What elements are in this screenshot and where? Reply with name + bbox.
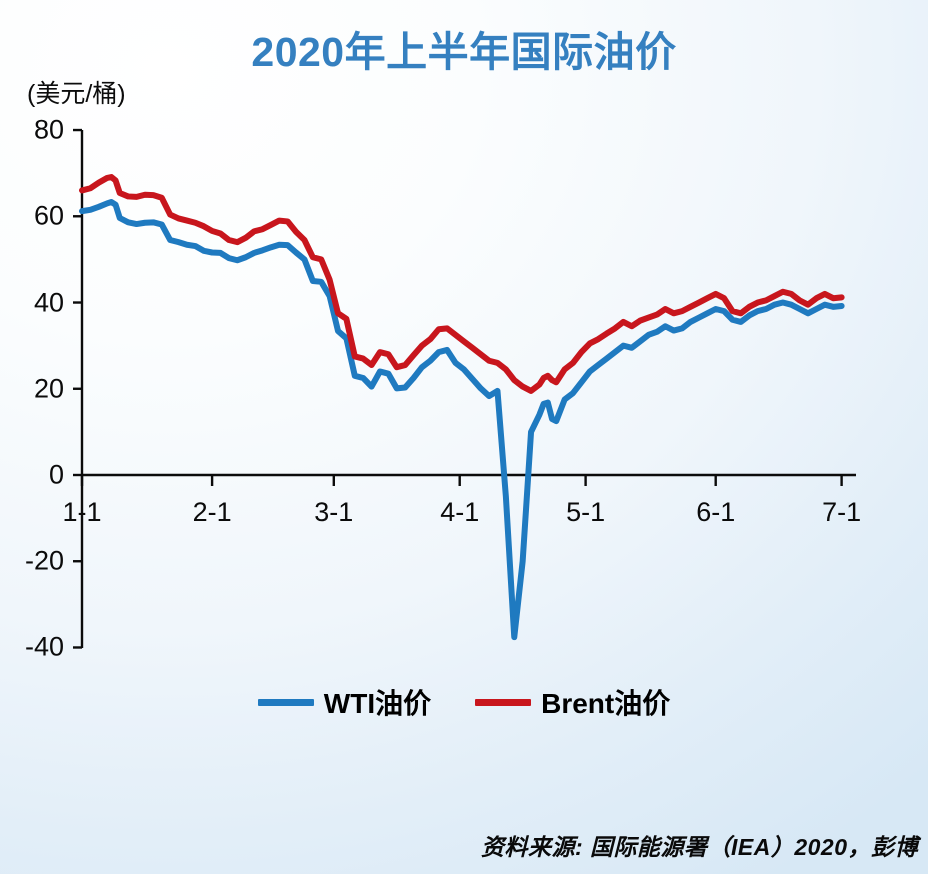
source-note: 资料来源: 国际能源署（IEA）2020，彭博 — [481, 828, 918, 862]
x-tick-label: 7-1 — [822, 497, 861, 528]
legend-swatch-wti — [258, 699, 314, 706]
x-tick-label: 2-1 — [193, 497, 232, 528]
x-tick-label: 4-1 — [440, 497, 479, 528]
x-tick-label: 6-1 — [696, 497, 735, 528]
series-line-wti — [82, 202, 842, 637]
legend-item-brent[interactable]: Brent油价 — [475, 682, 670, 722]
chart-page: 2020年上半年国际油价 (美元/桶) 806040200-20-40 1-12… — [0, 0, 928, 874]
x-tick-label: 5-1 — [566, 497, 605, 528]
y-tick-label: -20 — [4, 546, 64, 577]
x-tick-label: 3-1 — [314, 497, 353, 528]
legend-label-brent: Brent油价 — [541, 682, 670, 722]
y-tick-label: 80 — [4, 115, 64, 146]
legend-swatch-brent — [475, 699, 531, 706]
y-tick-label: 60 — [4, 201, 64, 232]
y-tick-label: 0 — [4, 460, 64, 491]
y-tick-label: -40 — [4, 632, 64, 663]
y-tick-label: 20 — [4, 373, 64, 404]
axis-lines — [73, 130, 856, 648]
legend-label-wti: WTI油价 — [324, 682, 431, 722]
legend-item-wti[interactable]: WTI油价 — [258, 682, 431, 722]
line-chart-plot — [0, 0, 928, 874]
chart-legend: WTI油价 Brent油价 — [0, 682, 928, 722]
series-line-brent — [82, 177, 842, 391]
series-lines — [82, 177, 842, 637]
y-tick-label: 40 — [4, 287, 64, 318]
x-tick-label: 1-1 — [62, 497, 101, 528]
